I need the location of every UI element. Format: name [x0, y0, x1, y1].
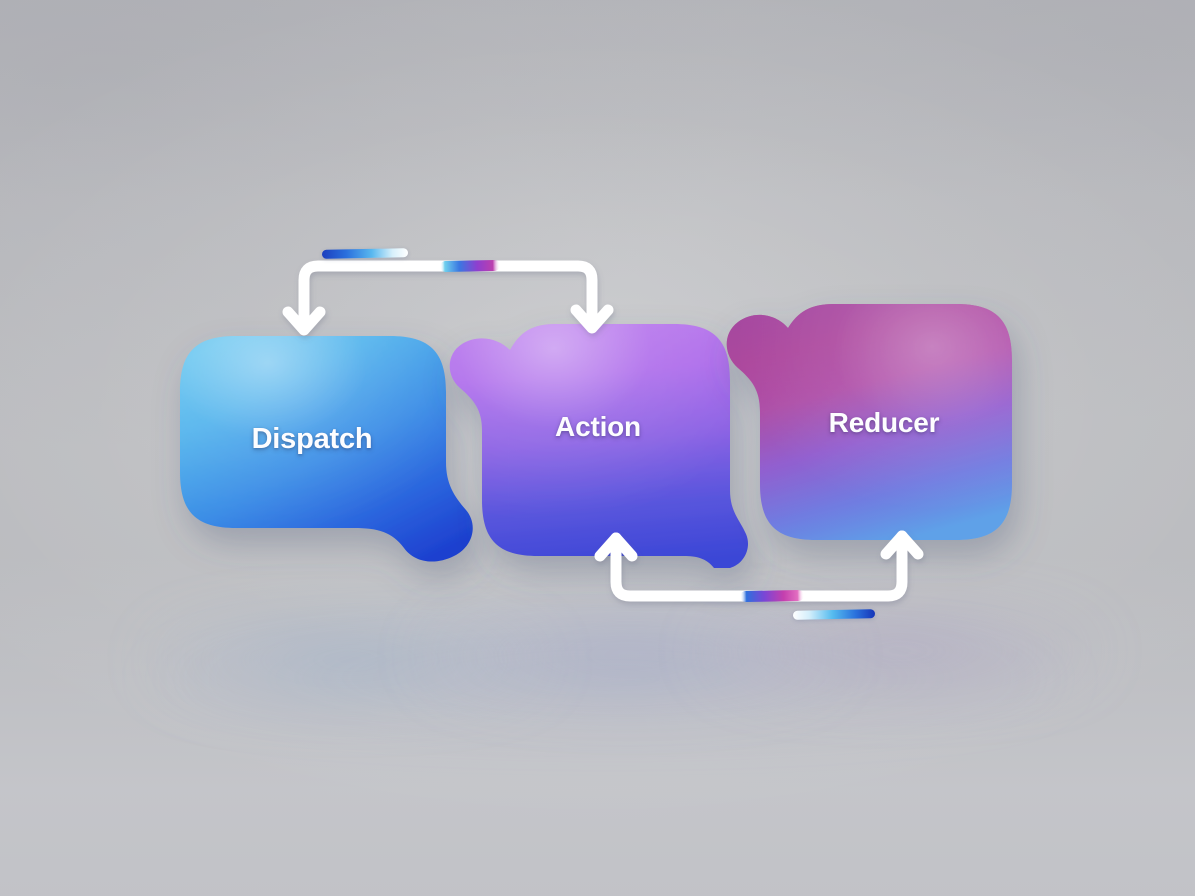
ground-reflection-wide	[120, 648, 1100, 708]
connector-top-path	[304, 266, 592, 328]
accent-bar-top	[322, 248, 408, 259]
ground-reflection-dispatch	[150, 628, 550, 692]
connector-bottom-path	[616, 536, 902, 596]
accent-bar-bottom	[793, 609, 875, 620]
node-reducer-label: Reducer	[754, 298, 1014, 548]
node-dispatch-label: Dispatch	[178, 334, 446, 544]
connector-bottom-accent-segment	[740, 590, 804, 602]
connector-top-accent-segment	[440, 260, 500, 272]
diagram-canvas: Dispatch	[0, 0, 1195, 896]
connector-bottom-bracket[interactable]	[588, 534, 928, 634]
node-action-label: Action	[480, 318, 716, 536]
